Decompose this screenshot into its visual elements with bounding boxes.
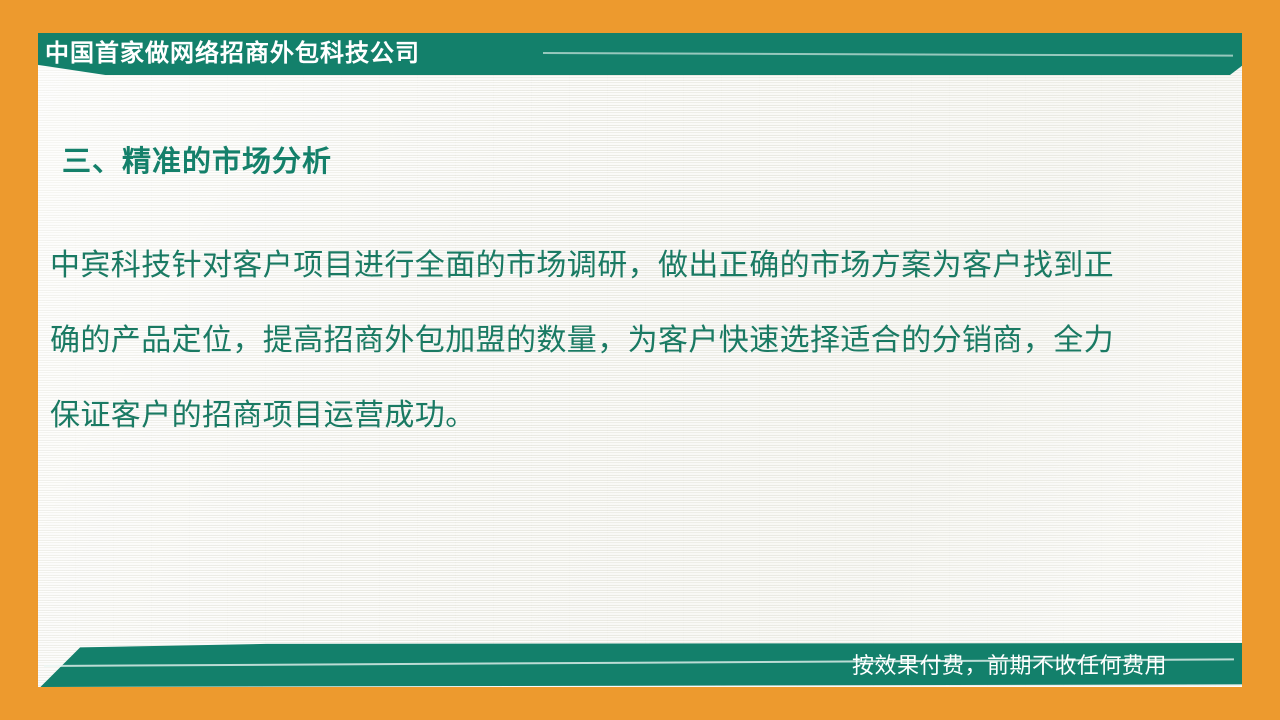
footer-tagline: 按效果付费，前期不收任何费用 (852, 651, 1232, 681)
body-line: 确的产品定位，提高招商外包加盟的数量，为客户快速选择适合的分销商，全力 (50, 303, 1185, 378)
presentation-slide: 中国首家做网络招商外包科技公司 三、精准的市场分析 中宾科技针对客户项目进行全面… (0, 0, 1280, 720)
header-title: 中国首家做网络招商外包科技公司 (45, 37, 565, 71)
section-heading: 三、精准的市场分析 (62, 138, 332, 180)
body-paragraph: 中宾科技针对客户项目进行全面的市场调研，做出正确的市场方案为客户找到正 确的产品… (50, 228, 1185, 453)
body-line: 保证客户的招商项目运营成功。 (50, 378, 1185, 453)
body-line: 中宾科技针对客户项目进行全面的市场调研，做出正确的市场方案为客户找到正 (50, 228, 1185, 303)
